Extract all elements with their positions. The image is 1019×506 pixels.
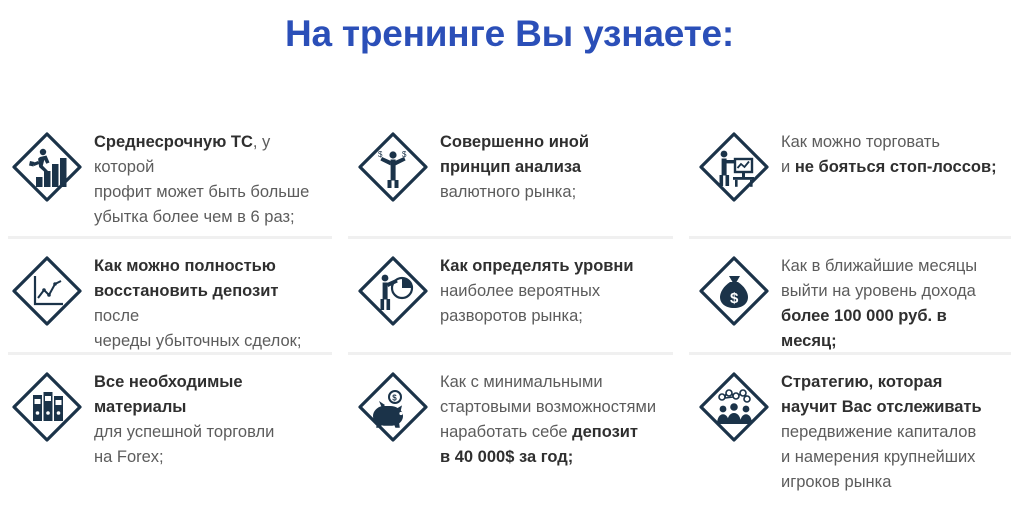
plain-text: наработать себе [440, 423, 572, 441]
benefits-grid: Среднесрочную ТС, у которойпрофит может … [0, 112, 1019, 492]
benefit-item-8: $ Как с минимальнымистартовыми возможнос… [340, 352, 681, 492]
plain-text: разворотов рынка; [440, 307, 583, 325]
person-climbing-bar-chart-icon [8, 128, 86, 206]
emphasis-text: депозит [572, 423, 638, 441]
emphasis-text: не бояться стоп-лоссов; [795, 158, 997, 176]
benefit-text-1: Среднесрочную ТС, у которойпрофит может … [94, 126, 328, 230]
training-benefits-section: На тренинге Вы узнаете: [0, 0, 1019, 506]
benefit-text-3: Как можно торговатьи не бояться стоп-лос… [781, 126, 997, 180]
emphasis-text: принцип анализа [440, 158, 581, 176]
emphasis-text: научит Вас отслеживать [781, 398, 982, 416]
benefit-text-4: Как можно полностьювосстановить депозит … [94, 250, 328, 354]
benefit-text-6: Как в ближайшие месяцывыйти на уровень д… [781, 250, 1007, 354]
piggy-bank-icon: $ [354, 368, 432, 446]
svg-text:$: $ [730, 290, 739, 307]
benefit-item-6: $ Как в ближайшие месяцывыйти на уровень… [681, 236, 1019, 352]
benefit-item-1: Среднесрочную ТС, у которойпрофит может … [0, 112, 340, 236]
svg-text:$: $ [378, 150, 383, 159]
money-bag-icon: $ [695, 252, 773, 330]
benefit-item-7: Все необходимые материалыдля успешной то… [0, 352, 340, 492]
plain-text: на Forex; [94, 448, 164, 466]
emphasis-text: Среднесрочную ТС [94, 133, 253, 151]
binders-folders-icon [8, 368, 86, 446]
emphasis-text: Совершенно иной [440, 133, 589, 151]
svg-text:$: $ [402, 150, 407, 159]
plain-text: наиболее вероятных [440, 282, 600, 300]
group-of-people-network-icon [695, 368, 773, 446]
emphasis-text: Как можно полностью [94, 257, 276, 275]
emphasis-text: Стратегию, которая [781, 373, 942, 391]
benefit-item-5: Как определять уровнинаиболее вероятныхр… [340, 236, 681, 352]
plain-text: профит может быть больше [94, 183, 309, 201]
plain-text: и [781, 158, 795, 176]
svg-text:$: $ [392, 394, 397, 403]
emphasis-text: в 40 000$ за год; [440, 448, 573, 466]
plain-text: убытка более чем в 6 раз; [94, 208, 295, 226]
plain-text: игроков рынка [781, 473, 891, 491]
plain-text: стартовыми возможностями [440, 398, 656, 416]
benefit-item-2: $ $ Совершенно инойпринцип анализавалютн… [340, 112, 681, 236]
benefit-item-4: Как можно полностьювосстановить депозит … [0, 236, 340, 352]
plain-text: Как с минимальными [440, 373, 603, 391]
plain-text: череды убыточных сделок; [94, 332, 301, 350]
benefit-text-5: Как определять уровнинаиболее вероятныхр… [440, 250, 634, 329]
plain-text: выйти на уровень дохода [781, 282, 976, 300]
plain-text: после [94, 307, 139, 325]
page-title: На тренинге Вы узнаете: [0, 8, 1019, 60]
emphasis-text: более 100 000 руб. в месяц; [781, 307, 947, 350]
benefit-item-3: Как можно торговатьи не бояться стоп-лос… [681, 112, 1019, 236]
plain-text: передвижение капиталов [781, 423, 976, 441]
plain-text: валютного рынка; [440, 183, 576, 201]
benefit-text-9: Стратегию, котораянаучит Вас отслеживать… [781, 366, 982, 495]
plain-text: Как в ближайшие месяцы [781, 257, 977, 275]
plain-text: и намерения крупнейших [781, 448, 975, 466]
emphasis-text: Все необходимые материалы [94, 373, 243, 416]
person-with-pie-chart-icon [354, 252, 432, 330]
plain-text: Как можно торговать [781, 133, 940, 151]
plain-text: для успешной торговли [94, 423, 274, 441]
emphasis-text: Как определять уровни [440, 257, 634, 275]
benefit-item-9: Стратегию, котораянаучит Вас отслеживать… [681, 352, 1019, 492]
emphasis-text: восстановить депозит [94, 282, 278, 300]
person-at-trading-desk-icon [695, 128, 773, 206]
benefit-text-2: Совершенно инойпринцип анализавалютного … [440, 126, 589, 205]
line-chart-icon [8, 252, 86, 330]
benefit-text-7: Все необходимые материалыдля успешной то… [94, 366, 328, 470]
person-holding-money-icon: $ $ [354, 128, 432, 206]
benefit-text-8: Как с минимальнымистартовыми возможностя… [440, 366, 656, 470]
